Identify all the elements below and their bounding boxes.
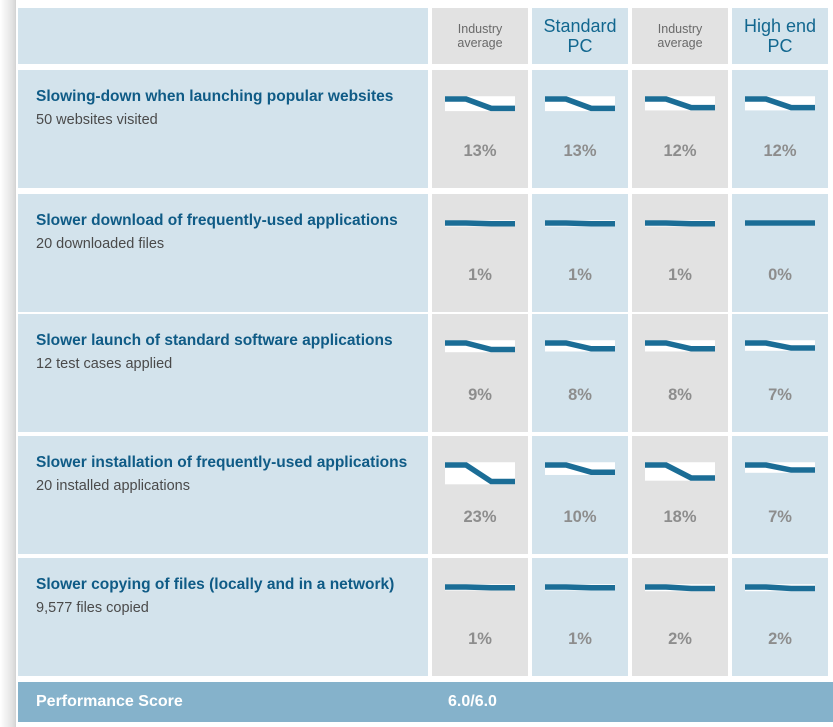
row-label-cell: Slower download of frequently-used appli… [18, 194, 428, 312]
row-subtitle: 9,577 files copied [36, 599, 410, 618]
sparkline-icon [645, 580, 715, 614]
sparkline-icon [545, 458, 615, 492]
metric-value: 2% [632, 630, 728, 649]
metric-cell: 12% [732, 70, 828, 188]
header-label-spacer [18, 8, 428, 64]
metric-value: 2% [732, 630, 828, 649]
row-subtitle: 12 test cases applied [36, 355, 410, 374]
performance-score-bar: Performance Score 6.0/6.0 [18, 682, 833, 722]
column-header-label: Industryaverage [632, 22, 728, 50]
row-label-cell: Slowing-down when launching popular webs… [18, 70, 428, 188]
sparkline-icon [545, 216, 615, 250]
metric-cell: 8% [632, 314, 728, 432]
sparkline-icon [445, 580, 515, 614]
metric-value: 1% [632, 266, 728, 285]
metric-cell: 13% [432, 70, 528, 188]
metric-value: 12% [732, 142, 828, 161]
metric-cell: 13% [532, 70, 628, 188]
metric-cell: 10% [532, 436, 628, 554]
row-label-cell: Slower installation of frequently-used a… [18, 436, 428, 554]
metric-value: 1% [532, 266, 628, 285]
column-header-label: Industryaverage [432, 22, 528, 50]
metric-value: 9% [432, 386, 528, 405]
row-title: Slowing-down when launching popular webs… [36, 84, 410, 109]
sparkline-icon [745, 336, 815, 370]
metric-cell: 2% [632, 558, 728, 676]
row-title: Slower download of frequently-used appli… [36, 208, 410, 233]
metric-cell: 18% [632, 436, 728, 554]
metric-cell: 12% [632, 70, 728, 188]
row-title: Slower installation of frequently-used a… [36, 450, 410, 475]
metric-cell: 8% [532, 314, 628, 432]
row-subtitle: 20 installed applications [36, 477, 410, 496]
metric-cell: 2% [732, 558, 828, 676]
metric-value: 1% [432, 266, 528, 285]
metric-cell: 1% [532, 558, 628, 676]
column-header-label: StandardPC [532, 16, 628, 56]
metric-value: 1% [432, 630, 528, 649]
metric-cell: 7% [732, 436, 828, 554]
metric-value: 13% [532, 142, 628, 161]
metric-value: 8% [532, 386, 628, 405]
sparkline-icon [745, 458, 815, 492]
sparkline-icon [545, 336, 615, 370]
sparkline-icon [745, 92, 815, 126]
metric-value: 0% [732, 266, 828, 285]
sparkline-icon [545, 92, 615, 126]
performance-table: Industryaverage StandardPC Industryavera… [18, 0, 833, 727]
table-row: Slower copying of files (locally and in … [18, 558, 833, 676]
metric-cell: 7% [732, 314, 828, 432]
metric-value: 7% [732, 508, 828, 527]
metric-cell: 0% [732, 194, 828, 312]
table-row: Slower download of frequently-used appli… [18, 194, 833, 312]
metric-value: 10% [532, 508, 628, 527]
row-label-cell: Slower copying of files (locally and in … [18, 558, 428, 676]
metric-cell: 1% [432, 194, 528, 312]
sparkline-icon [445, 92, 515, 126]
metric-cell: 1% [432, 558, 528, 676]
metric-value: 23% [432, 508, 528, 527]
column-header-standard-pc[interactable]: StandardPC [532, 8, 628, 64]
sparkline-icon [645, 336, 715, 370]
table-row: Slower installation of frequently-used a… [18, 436, 833, 554]
sparkline-icon [645, 92, 715, 126]
row-label-cell: Slower launch of standard software appli… [18, 314, 428, 432]
metric-cell: 1% [532, 194, 628, 312]
metric-value: 13% [432, 142, 528, 161]
page-edge-shadow [0, 0, 16, 727]
table-row: Slower launch of standard software appli… [18, 314, 833, 432]
sparkline-icon [745, 580, 815, 614]
metric-value: 1% [532, 630, 628, 649]
sparkline-icon [745, 216, 815, 250]
column-header-industry-average-2[interactable]: Industryaverage [632, 8, 728, 64]
sparkline-icon [645, 216, 715, 250]
metric-value: 12% [632, 142, 728, 161]
column-header-high-end-pc[interactable]: High endPC [732, 8, 828, 64]
metric-cell: 1% [632, 194, 728, 312]
sparkline-icon [445, 336, 515, 370]
row-title: Slower copying of files (locally and in … [36, 572, 410, 597]
metric-cell: 23% [432, 436, 528, 554]
row-title: Slower launch of standard software appli… [36, 328, 410, 353]
metric-value: 8% [632, 386, 728, 405]
sparkline-icon [545, 580, 615, 614]
sparkline-icon [645, 458, 715, 492]
column-header-label: High endPC [732, 16, 828, 56]
performance-score-label: Performance Score [36, 693, 183, 711]
metric-value: 7% [732, 386, 828, 405]
table-header-row: Industryaverage StandardPC Industryavera… [18, 8, 833, 64]
column-header-industry-average-1[interactable]: Industryaverage [432, 8, 528, 64]
row-subtitle: 20 downloaded files [36, 235, 410, 254]
metric-cell: 9% [432, 314, 528, 432]
sparkline-icon [445, 216, 515, 250]
table-row: Slowing-down when launching popular webs… [18, 70, 833, 188]
performance-score-value: 6.0/6.0 [448, 693, 497, 711]
sparkline-icon [445, 458, 515, 492]
metric-value: 18% [632, 508, 728, 527]
row-subtitle: 50 websites visited [36, 111, 410, 130]
